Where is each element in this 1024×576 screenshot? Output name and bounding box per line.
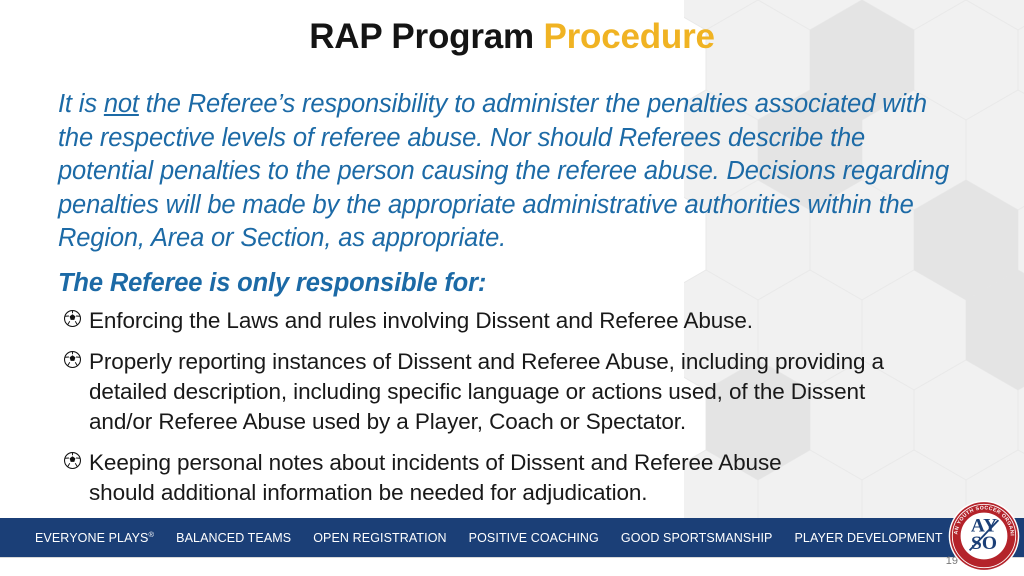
footer-item-player-development: PLAYER DEVELOPMENT — [794, 531, 942, 545]
footer-tagline-list: EVERYONE PLAYS® BALANCED TEAMS OPEN REGI… — [35, 530, 943, 545]
registered-mark-icon: ® — [149, 530, 155, 539]
footer-item-balanced-teams: BALANCED TEAMS — [176, 531, 291, 545]
footer-band: EVERYONE PLAYS® BALANCED TEAMS OPEN REGI… — [0, 518, 1024, 557]
list-item: Keeping personal notes about incidents o… — [60, 448, 965, 508]
soccer-ball-icon — [60, 347, 84, 377]
list-item: Properly reporting instances of Dissent … — [60, 347, 965, 437]
footer-item-open-registration: OPEN REGISTRATION — [313, 531, 446, 545]
footer-item-good-sportsmanship: GOOD SPORTSMANSHIP — [621, 531, 773, 545]
page-title-main: RAP Program — [309, 17, 543, 56]
intro-paragraph-emphasis: not — [104, 90, 139, 118]
intro-paragraph-part1: It is — [58, 90, 104, 118]
footer-divider — [0, 557, 1024, 558]
intro-paragraph: It is not the Referee’s responsibility t… — [58, 88, 963, 256]
slide-canvas: RAP Program Procedure It is not the Refe… — [0, 0, 1024, 576]
footer-item-everyone-plays: EVERYONE PLAYS® — [35, 530, 154, 545]
list-item-label: Enforcing the Laws and rules involving D… — [89, 306, 965, 336]
page-title: RAP Program Procedure — [0, 18, 1024, 57]
list-item-label: Properly reporting instances of Dissent … — [89, 347, 965, 437]
footer-item-positive-coaching: POSITIVE COACHING — [469, 531, 599, 545]
footer-item-label: EVERYONE PLAYS — [35, 531, 149, 545]
soccer-ball-icon — [60, 306, 84, 336]
soccer-ball-icon — [60, 448, 84, 478]
ayso-logo: AMERICAN YOUTH SOCCER ORGANIZATION FOUND… — [948, 500, 1020, 572]
sub-heading: The Referee is only responsible for: — [58, 268, 963, 299]
list-item: Enforcing the Laws and rules involving D… — [60, 306, 965, 336]
page-title-accent: Procedure — [543, 17, 714, 56]
responsibilities-list: Enforcing the Laws and rules involving D… — [60, 306, 965, 519]
list-item-label: Keeping personal notes about incidents o… — [89, 448, 965, 508]
intro-paragraph-part2: the Referee’s responsibility to administ… — [58, 90, 949, 252]
